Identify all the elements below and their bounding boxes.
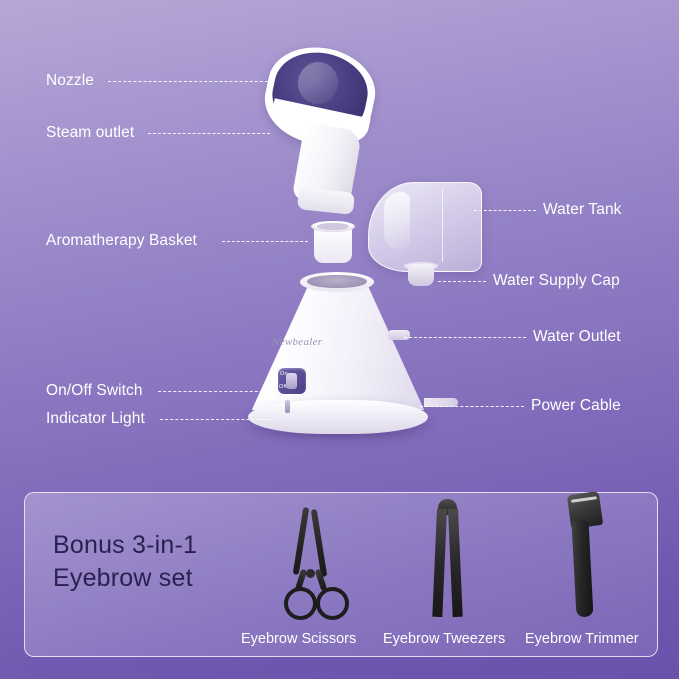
callout-label-power-cable: Power Cable	[531, 397, 621, 415]
leader-line-steam-outlet	[148, 133, 270, 134]
indicator-light	[285, 400, 290, 413]
scissors-ring-right	[316, 587, 349, 620]
caption-eyebrow-scissors: Eyebrow Scissors	[241, 631, 356, 647]
leader-line-indicator	[160, 419, 270, 420]
product-infographic: Newbealer On Off Nozzle Steam outlet Aro…	[0, 0, 679, 679]
callout-label-water-tank: Water Tank	[543, 201, 622, 219]
tweezers-arm-left	[432, 509, 447, 617]
leader-line-power-cable	[420, 406, 524, 407]
nozzle-base-joint	[297, 187, 355, 215]
tank-highlight	[384, 192, 410, 250]
scissors-blade-left	[293, 507, 310, 575]
bonus-title-line-1: Bonus 3-in-1	[53, 529, 197, 562]
bonus-title: Bonus 3-in-1 Eyebrow set	[53, 529, 197, 595]
eyebrow-trimmer-illustration	[565, 493, 605, 621]
callout-label-nozzle: Nozzle	[46, 72, 94, 90]
leader-line-water-outlet	[404, 337, 526, 338]
scissors-pivot	[306, 569, 315, 578]
power-switch-knob[interactable]	[286, 373, 297, 389]
caption-eyebrow-trimmer: Eyebrow Trimmer	[525, 631, 639, 647]
trimmer-handle	[571, 521, 593, 618]
scissors-blade-right	[311, 509, 328, 577]
bonus-title-line-2: Eyebrow set	[53, 562, 197, 595]
callout-label-aroma-basket: Aromatherapy Basket	[46, 232, 197, 250]
leader-line-aroma-basket	[222, 241, 308, 242]
bonus-panel: Bonus 3-in-1 Eyebrow set Eyebrow Scissor…	[24, 492, 658, 657]
aromatherapy-basket	[311, 219, 355, 265]
caption-eyebrow-tweezers: Eyebrow Tweezers	[383, 631, 505, 647]
water-outlet-port	[388, 330, 410, 340]
leader-line-water-tank	[474, 210, 536, 211]
leader-line-supply-cap	[438, 281, 486, 282]
base-top-opening	[307, 275, 367, 288]
brand-text: Newbealer	[272, 336, 322, 348]
tweezers-arm-right	[448, 509, 463, 617]
callout-label-steam-outlet: Steam outlet	[46, 124, 134, 142]
leader-line-on-off	[158, 391, 268, 392]
eyebrow-scissors-illustration	[268, 507, 354, 619]
scissors-ring-left	[284, 587, 317, 620]
callout-label-on-off: On/Off Switch	[46, 382, 143, 400]
callout-label-supply-cap: Water Supply Cap	[493, 272, 620, 290]
leader-line-nozzle	[108, 81, 268, 82]
base-foot	[248, 400, 428, 434]
tank-edge-line	[442, 188, 443, 262]
callout-label-indicator: Indicator Light	[46, 410, 145, 428]
steamer-base-unit: Newbealer On Off	[238, 272, 438, 452]
callout-label-water-outlet: Water Outlet	[533, 328, 621, 346]
eyebrow-tweezers-illustration	[425, 499, 471, 619]
basket-opening	[317, 223, 349, 230]
